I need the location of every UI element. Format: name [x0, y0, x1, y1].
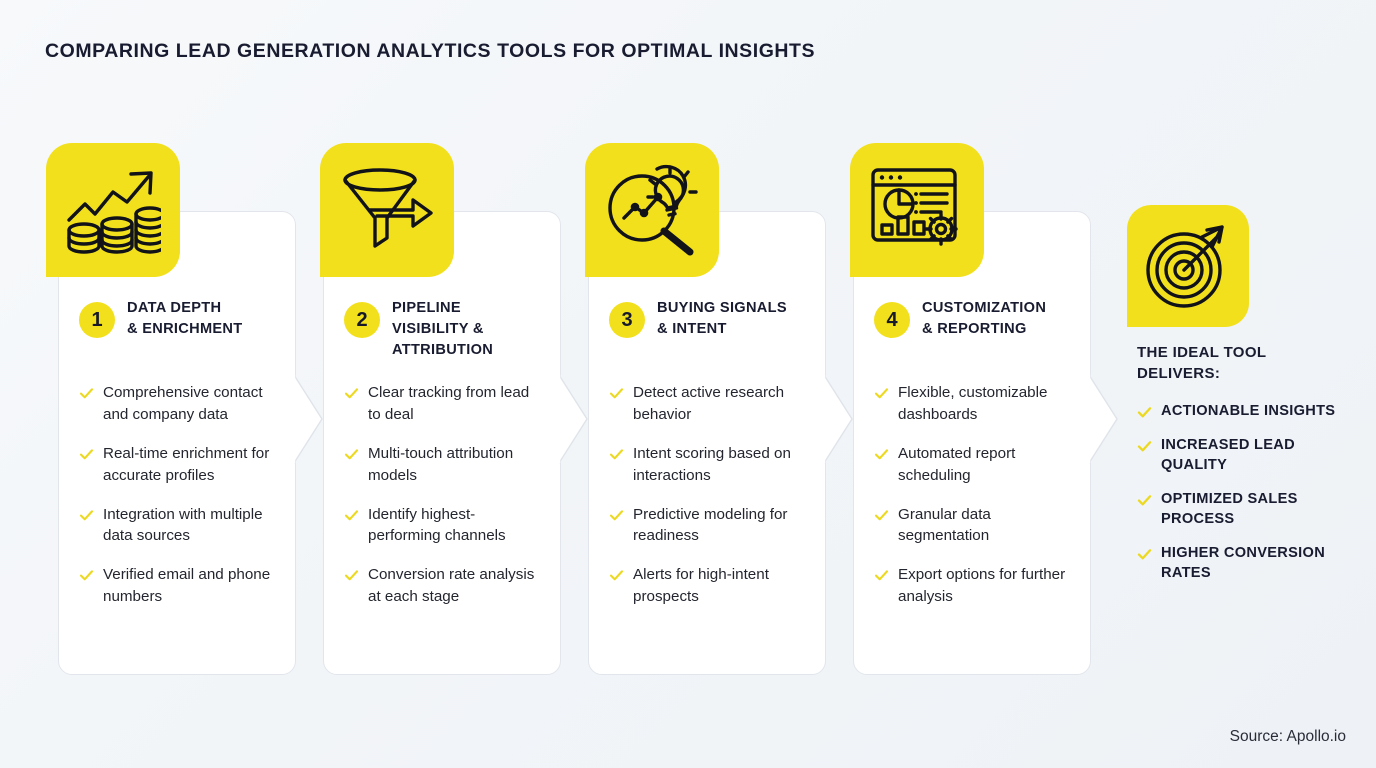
step-number-1: 1 [79, 302, 115, 338]
list-item: Flexible, customizable dashboards [874, 382, 1076, 426]
card-title-2: PIPELINE VISIBILITY & ATTRIBUTION [392, 296, 493, 361]
check-icon [1137, 493, 1152, 508]
card-title-2-line3: ATTRIBUTION [392, 340, 493, 361]
list-item: OPTIMIZED SALES PROCESS [1137, 489, 1365, 529]
card-data-depth[interactable]: 1 DATA DEPTH & ENRICHMENT Comprehensive … [58, 211, 296, 675]
bullet-text: Predictive modeling for readiness [633, 504, 811, 548]
check-icon [874, 447, 889, 462]
list-item: Granular data segmentation [874, 504, 1076, 548]
bullet-text: ACTIONABLE INSIGHTS [1161, 401, 1335, 421]
bullet-text: Comprehensive contact and company data [103, 382, 281, 426]
card-title-4-line2: & REPORTING [922, 319, 1046, 340]
check-icon [609, 447, 624, 462]
check-icon [874, 386, 889, 401]
list-item: Clear tracking from lead to deal [344, 382, 546, 426]
bullet-list-4: Flexible, customizable dashboards Automa… [874, 382, 1076, 625]
chevron-connector-1 [294, 375, 324, 464]
bullet-text: Multi-touch attribution models [368, 443, 546, 487]
icon-badge-2 [320, 143, 454, 277]
bullet-text: INCREASED LEAD QUALITY [1161, 435, 1365, 475]
card-title-1-line1: DATA DEPTH [127, 298, 242, 319]
check-icon [344, 447, 359, 462]
page-title: COMPARING LEAD GENERATION ANALYTICS TOOL… [45, 40, 815, 63]
bullet-text: Detect active research behavior [633, 382, 811, 426]
magnifier-lightbulb-icon [604, 164, 700, 256]
list-item: Conversion rate analysis at each stage [344, 564, 546, 608]
ideal-tool-title: THE IDEAL TOOL DELIVERS: [1137, 342, 1365, 385]
check-icon [79, 386, 94, 401]
check-icon [79, 447, 94, 462]
ideal-tool-bullet-list: ACTIONABLE INSIGHTS INCREASED LEAD QUALI… [1137, 401, 1365, 584]
check-icon [79, 508, 94, 523]
bullet-text: Automated report scheduling [898, 443, 1076, 487]
funnel-arrow-icon [339, 166, 435, 254]
card-title-3-line1: BUYING SIGNALS [657, 298, 787, 319]
card-header-3: 3 BUYING SIGNALS & INTENT [609, 296, 813, 340]
chevron-connector-3 [824, 375, 854, 464]
check-icon [609, 568, 624, 583]
card-buying-signals[interactable]: 3 BUYING SIGNALS & INTENT Detect active … [588, 211, 826, 675]
bullet-text: Granular data segmentation [898, 504, 1076, 548]
list-item: Multi-touch attribution models [344, 443, 546, 487]
bullet-text: Verified email and phone numbers [103, 564, 281, 608]
icon-badge-4 [850, 143, 984, 277]
check-icon [1137, 439, 1152, 454]
bullet-text: Real-time enrichment for accurate profil… [103, 443, 281, 487]
list-item: ACTIONABLE INSIGHTS [1137, 401, 1365, 421]
check-icon [344, 568, 359, 583]
card-title-1-line2: & ENRICHMENT [127, 319, 242, 340]
card-title-1: DATA DEPTH & ENRICHMENT [127, 296, 242, 340]
check-icon [874, 568, 889, 583]
check-icon [609, 386, 624, 401]
bullet-text: Alerts for high-intent prospects [633, 564, 811, 608]
icon-badge-3 [585, 143, 719, 277]
bullet-text: Conversion rate analysis at each stage [368, 564, 546, 608]
bullet-text: Integration with multiple data sources [103, 504, 281, 548]
target-arrow-icon [1144, 222, 1232, 310]
check-icon [79, 568, 94, 583]
ideal-tool-column: THE IDEAL TOOL DELIVERS: ACTIONABLE INSI… [1137, 342, 1365, 597]
list-item: HIGHER CONVERSION RATES [1137, 543, 1365, 583]
bullet-text: Clear tracking from lead to deal [368, 382, 546, 426]
list-item: INCREASED LEAD QUALITY [1137, 435, 1365, 475]
check-icon [1137, 547, 1152, 562]
card-header-1: 1 DATA DEPTH & ENRICHMENT [79, 296, 283, 340]
chevron-connector-2 [559, 375, 589, 464]
card-title-3: BUYING SIGNALS & INTENT [657, 296, 787, 340]
list-item: Identify highest-performing channels [344, 504, 546, 548]
bullet-list-3: Detect active research behavior Intent s… [609, 382, 811, 625]
check-icon [344, 508, 359, 523]
icon-badge-ideal-tool [1127, 205, 1249, 327]
bullet-text: Export options for further analysis [898, 564, 1076, 608]
ideal-tool-title-line2: DELIVERS: [1137, 363, 1365, 384]
card-customization-reporting[interactable]: 4 CUSTOMIZATION & REPORTING Flexible, cu… [853, 211, 1091, 675]
source-attribution: Source: Apollo.io [1230, 728, 1346, 746]
growth-chart-coins-icon [65, 164, 161, 256]
card-title-3-line2: & INTENT [657, 319, 787, 340]
check-icon [1137, 405, 1152, 420]
step-number-2: 2 [344, 302, 380, 338]
chevron-connector-4 [1089, 375, 1119, 464]
bullet-text: Intent scoring based on interactions [633, 443, 811, 487]
bullet-text: HIGHER CONVERSION RATES [1161, 543, 1365, 583]
step-number-4: 4 [874, 302, 910, 338]
step-number-3: 3 [609, 302, 645, 338]
card-title-4-line1: CUSTOMIZATION [922, 298, 1046, 319]
card-title-2-line2: VISIBILITY & [392, 319, 493, 340]
bullet-list-1: Comprehensive contact and company data R… [79, 382, 281, 625]
check-icon [874, 508, 889, 523]
icon-badge-1 [46, 143, 180, 277]
list-item: Integration with multiple data sources [79, 504, 281, 548]
list-item: Automated report scheduling [874, 443, 1076, 487]
list-item: Detect active research behavior [609, 382, 811, 426]
bullet-list-2: Clear tracking from lead to deal Multi-t… [344, 382, 546, 625]
card-header-4: 4 CUSTOMIZATION & REPORTING [874, 296, 1078, 340]
bullet-text: Identify highest-performing channels [368, 504, 546, 548]
bullet-text: Flexible, customizable dashboards [898, 382, 1076, 426]
list-item: Export options for further analysis [874, 564, 1076, 608]
card-pipeline-visibility[interactable]: 2 PIPELINE VISIBILITY & ATTRIBUTION Clea… [323, 211, 561, 675]
list-item: Real-time enrichment for accurate profil… [79, 443, 281, 487]
bullet-text: OPTIMIZED SALES PROCESS [1161, 489, 1365, 529]
list-item: Verified email and phone numbers [79, 564, 281, 608]
list-item: Predictive modeling for readiness [609, 504, 811, 548]
check-icon [609, 508, 624, 523]
dashboard-gear-icon [869, 166, 965, 254]
list-item: Intent scoring based on interactions [609, 443, 811, 487]
ideal-tool-title-line1: THE IDEAL TOOL [1137, 342, 1365, 363]
card-title-4: CUSTOMIZATION & REPORTING [922, 296, 1046, 340]
infographic-board: COMPARING LEAD GENERATION ANALYTICS TOOL… [0, 0, 1376, 768]
card-header-2: 2 PIPELINE VISIBILITY & ATTRIBUTION [344, 296, 548, 361]
list-item: Alerts for high-intent prospects [609, 564, 811, 608]
list-item: Comprehensive contact and company data [79, 382, 281, 426]
check-icon [344, 386, 359, 401]
card-title-2-line1: PIPELINE [392, 298, 493, 319]
